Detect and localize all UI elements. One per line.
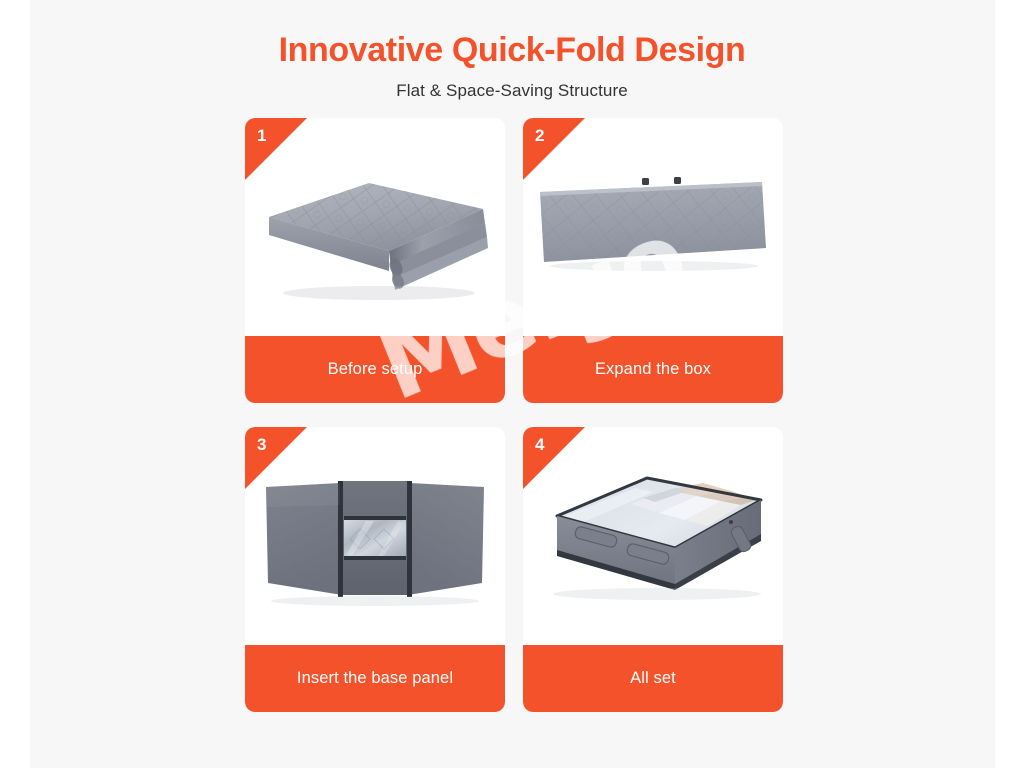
steps-grid: 1 (245, 118, 783, 712)
step-number-label: 1 (257, 127, 266, 144)
page-title: Innovative Quick-Fold Design (0, 30, 1024, 71)
header: Innovative Quick-Fold Design Flat & Spac… (0, 30, 1024, 101)
product-infographic-page: Innovative Quick-Fold Design Flat & Spac… (0, 0, 1024, 768)
step-card-4[interactable]: 4 (523, 427, 783, 712)
step-caption-1: Before setup (245, 336, 505, 403)
step-number-badge: 1 (245, 118, 307, 180)
step-caption-4: All set (523, 645, 783, 712)
step-number-label: 4 (535, 436, 544, 453)
corner-triangle-shape (523, 118, 585, 180)
page-subtitle: Flat & Space-Saving Structure (0, 81, 1024, 101)
corner-triangle-shape (523, 427, 585, 489)
step-card-3[interactable]: 3 (245, 427, 505, 712)
step-card-2[interactable]: 2 (523, 118, 783, 403)
step-caption-3: Insert the base panel (245, 645, 505, 712)
expanded-flat-panel-photo (534, 162, 772, 292)
step-number-label: 2 (535, 127, 544, 144)
step-card-1[interactable]: 1 (245, 118, 505, 403)
step-number-label: 3 (257, 436, 266, 453)
corner-triangle-shape (245, 427, 307, 489)
corner-triangle-shape (245, 118, 307, 180)
step-caption-2: Expand the box (523, 336, 783, 403)
step-number-badge: 4 (523, 427, 585, 489)
step-number-badge: 2 (523, 118, 585, 180)
step-number-badge: 3 (245, 427, 307, 489)
